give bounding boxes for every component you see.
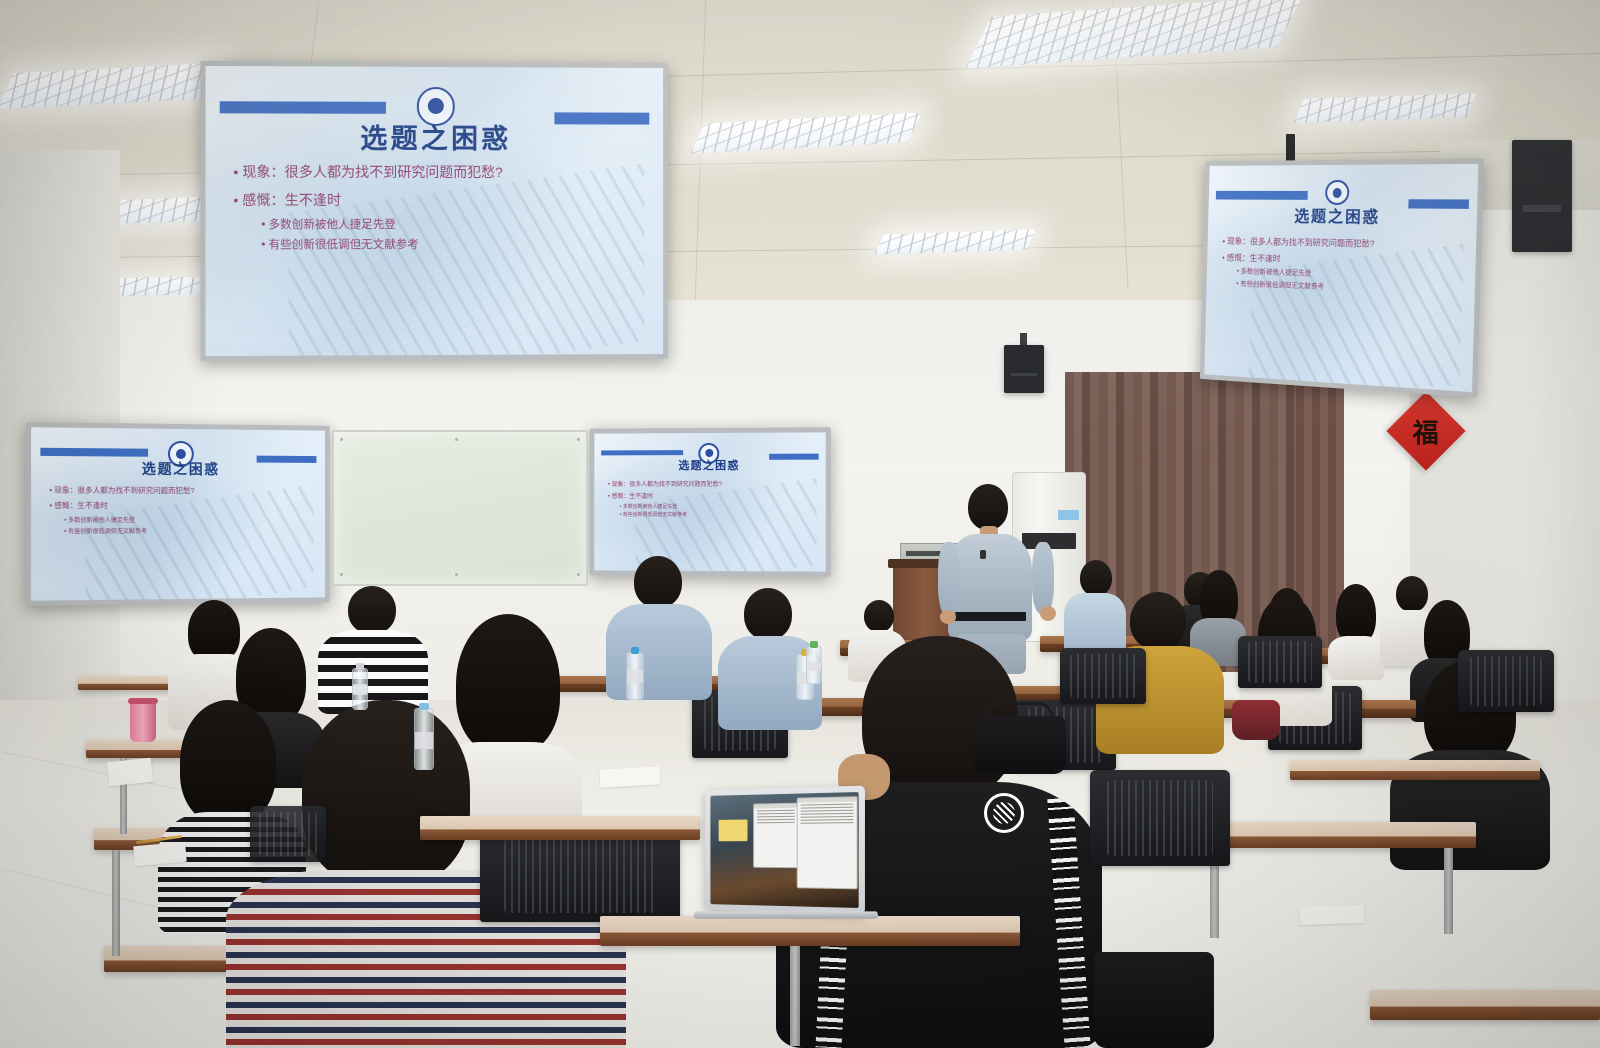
chair [1090, 770, 1230, 866]
laptop-base [693, 911, 879, 918]
water-bottle [352, 668, 368, 710]
slide-bullet: • 多数创新被他人捷足先登 [64, 515, 311, 524]
lecture-hall-photo: 福 选题之困惑 • 现象：很多人都为找不到研究问题而犯愁? • 感慨：生不逢时 … [0, 0, 1600, 1048]
slide-bullet: • 有些创新很低调但无文献参考 [620, 511, 814, 518]
slide-bullet: • 现象：很多人都为找不到研究问题而犯愁? [1222, 235, 1461, 251]
paper-sheet [107, 758, 153, 786]
lecturer-torso [948, 534, 1032, 640]
water-bottle [806, 646, 822, 684]
sticky-note-widget [719, 819, 747, 841]
chair [1238, 636, 1322, 688]
slide-title: 选题之困惑 [206, 117, 664, 157]
main-projection-screen[interactable]: 选题之困惑 • 现象：很多人都为找不到研究问题而犯愁? • 感慨：生不逢时 • … [200, 61, 668, 361]
water-bottle [414, 708, 434, 770]
desk [600, 916, 1020, 946]
lecturer-arm [938, 542, 960, 616]
lecturer-hand [940, 610, 956, 624]
jacket-logo-icon [984, 793, 1024, 833]
lecturer-head [968, 484, 1008, 530]
laptop-window [797, 797, 858, 889]
slide-bullet: • 现象：很多人都为找不到研究问题而犯愁? [49, 485, 310, 497]
whiteboard [332, 430, 588, 586]
slide-bullet: • 现象：很多人都为找不到研究问题而犯愁? [233, 162, 640, 183]
water-bottle [626, 652, 644, 700]
desk-leg [112, 850, 120, 956]
fu-character: 福 [1413, 412, 1439, 449]
desk [420, 816, 700, 840]
student [1328, 584, 1384, 668]
backpack [1094, 952, 1214, 1048]
slide-bullet: • 感慨：生不逢时 [233, 190, 640, 210]
chair [480, 830, 680, 922]
slide-bullet: • 多数创新被他人捷足先登 [261, 216, 640, 232]
desk [1290, 760, 1540, 780]
right-ceiling-tv[interactable]: 选题之困惑 • 现象：很多人都为找不到研究问题而犯愁? • 感慨：生不逢时 • … [1200, 159, 1484, 398]
chair [250, 806, 326, 862]
chair [1458, 650, 1554, 712]
desk [1370, 990, 1600, 1020]
paper-sheet [1300, 905, 1365, 925]
paper-sheet [600, 766, 661, 787]
center-wall-tv[interactable]: 选题之困惑 • 现象：很多人都为找不到研究问题而犯愁? • 感慨：生不逢时 • … [589, 427, 830, 576]
handbag [974, 716, 1066, 774]
lapel-microphone [980, 550, 986, 559]
laptop[interactable] [700, 788, 864, 912]
slide-bullet: • 感慨：生不逢时 [608, 491, 814, 500]
slide-bullet: • 现象：很多人都为找不到研究问题而犯愁? [608, 478, 814, 487]
laptop-window [753, 803, 799, 868]
lecturer-hand [1040, 606, 1056, 621]
lecturer-arm [1032, 542, 1054, 614]
belt [954, 612, 1026, 621]
desk-leg [1444, 848, 1453, 934]
chair [1060, 648, 1146, 704]
desk-leg [790, 946, 800, 1046]
laptop-screen [710, 792, 858, 908]
slide-title: 选题之困惑 [1208, 202, 1477, 229]
left-wall-tv[interactable]: 选题之困惑 • 现象：很多人都为找不到研究问题而犯愁? • 感慨：生不逢时 • … [26, 422, 330, 606]
slide-title: 选题之困惑 [594, 457, 825, 474]
slide-bullet: • 多数创新被他人捷足先登 [620, 503, 814, 510]
slide-bullet: • 感慨：生不逢时 [49, 500, 310, 511]
laptop-lid [705, 786, 865, 915]
drink-cup [130, 702, 156, 742]
slide-title: 选题之困惑 [31, 458, 325, 480]
pa-speaker [1004, 345, 1044, 393]
jacket-meander-stripe [1048, 797, 1091, 1048]
student [606, 556, 712, 686]
pa-speaker [1512, 140, 1572, 252]
slide-bullet: • 有些创新很低调但无文献参考 [261, 236, 640, 252]
slide-bullet: • 有些创新很低调但无文献参考 [64, 525, 311, 535]
student [318, 586, 428, 708]
slide-bullet: • 感慨：生不逢时 [1222, 251, 1461, 269]
slide-accent-bar-left [219, 101, 385, 114]
backpack [1232, 700, 1280, 740]
